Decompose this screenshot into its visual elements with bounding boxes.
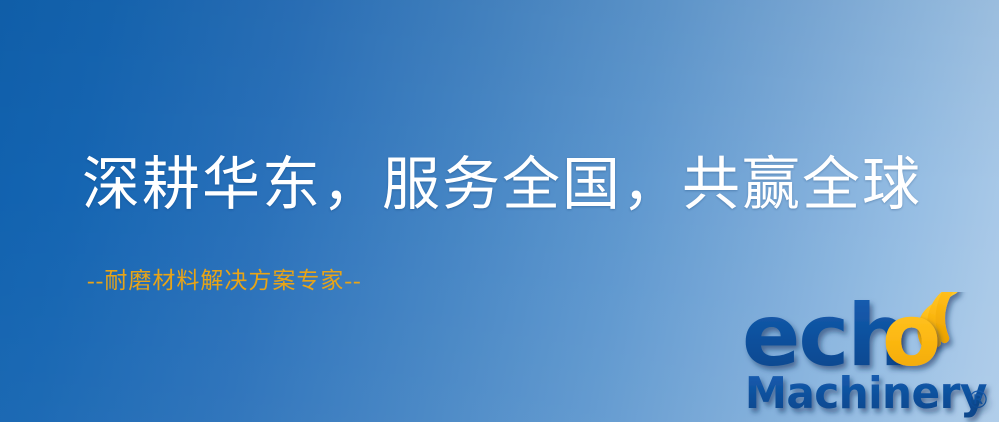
promo-banner: 深耕华东，服务全国，共赢全球 --耐磨材料解决方案专家--: [0, 0, 999, 422]
banner-subtitle: --耐磨材料解决方案专家--: [87, 267, 362, 295]
registered-trademark-mark: ®: [966, 386, 990, 414]
logo-artwork: ech o Machinery ®: [742, 292, 999, 422]
logo-machinery-text: Machinery: [745, 368, 987, 419]
echo-machinery-logo[interactable]: ech o Machinery ®: [742, 292, 999, 422]
page-title: 深耕华东，服务全国，共赢全球: [82, 150, 922, 220]
